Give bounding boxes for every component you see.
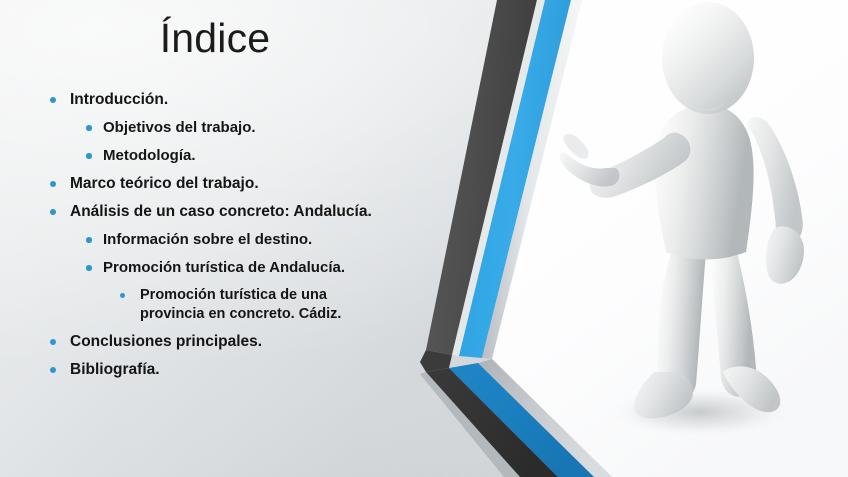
figure-torso <box>655 104 754 260</box>
slide-canvas: Índice Introducción. Objetivos del traba… <box>0 0 848 477</box>
outline-item-label: Bibliografía. <box>70 356 430 384</box>
chevron-lower-shadow <box>420 372 520 477</box>
outline-item-bibliografia: Bibliografía. <box>0 356 430 384</box>
chevron-upper-blue-band <box>459 0 571 358</box>
outline-item-metodologia: Metodología. <box>0 142 430 170</box>
outline-item-analisis-caso: Análisis de un caso concreto: Andalucía. <box>0 198 430 226</box>
outline-item-label: Metodología. <box>103 142 430 170</box>
outline-item-label: Promoción turística de una provincia en … <box>140 286 430 324</box>
figure-resting-arm <box>748 117 803 244</box>
figure-head <box>662 2 754 114</box>
outline-item-conclusiones: Conclusiones principales. <box>0 328 430 356</box>
bullet-dot-icon <box>50 209 56 215</box>
figure-pointing-hand <box>560 152 619 186</box>
chevron-upper-seam <box>452 0 545 356</box>
outline-item-label: Marco teórico del trabajo. <box>70 170 430 198</box>
outline-item-informacion-destino: Información sobre el destino. <box>0 226 430 254</box>
bullet-dot-icon <box>86 125 92 131</box>
outline-item-objetivos: Objetivos del trabajo. <box>0 114 430 142</box>
bullet-dot-icon <box>50 339 56 345</box>
bullet-dot-icon <box>120 293 125 298</box>
bullet-dot-icon <box>86 265 92 271</box>
bullet-dot-icon <box>50 367 56 373</box>
outline-item-introduccion: Introducción. <box>0 86 430 114</box>
figure-resting-hand <box>766 226 804 283</box>
bullet-dot-icon <box>50 97 56 103</box>
outline-item-label: Introducción. <box>70 86 430 114</box>
chevron-upper-dark-band <box>426 0 537 355</box>
outline-item-label: Objetivos del trabajo. <box>103 114 430 142</box>
outline-item-promocion-provincia-cadiz: Promoción turística de una provincia en … <box>0 282 430 328</box>
page-title: Índice <box>0 16 430 61</box>
outline-list: Introducción. Objetivos del trabajo. Met… <box>0 86 430 384</box>
outline-item-label: Conclusiones principales. <box>70 328 430 356</box>
outline-item-label: Información sobre el destino. <box>103 226 430 254</box>
3d-mannequin-pointing-left-icon <box>560 0 848 477</box>
bullet-dot-icon <box>50 181 56 187</box>
outline-item-label: Análisis de un caso concreto: Andalucía. <box>70 198 430 226</box>
outline-item-marco-teorico: Marco teórico del trabajo. <box>0 170 430 198</box>
bullet-dot-icon <box>86 153 92 159</box>
bullet-dot-icon <box>86 237 92 243</box>
outline-item-promocion-andalucia: Promoción turística de Andalucía. <box>0 254 430 282</box>
chevron-lower-dark-band <box>426 368 558 477</box>
outline-item-label: Promoción turística de Andalucía. <box>103 254 430 282</box>
